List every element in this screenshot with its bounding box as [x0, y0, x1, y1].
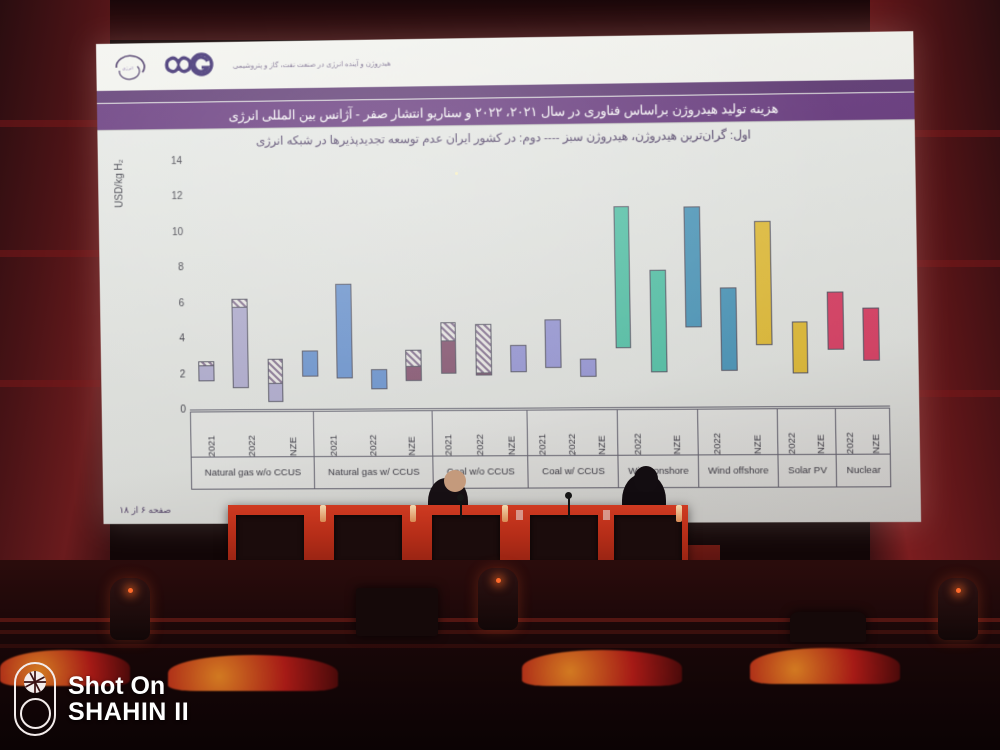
x-axis-group: 2022NZEWind offshore — [698, 409, 779, 487]
water-bottle — [502, 505, 508, 522]
watermark-line-1: Shot On — [68, 673, 189, 700]
x-axis-tick-label: 2022 — [247, 433, 258, 456]
x-axis-tick-label: NZE — [506, 434, 518, 455]
slide-subtitle: اول: گران‌ترین هیدروژن، هیدروژن سبز ----… — [97, 125, 915, 150]
x-axis-group-label: Wind offshore — [699, 455, 778, 487]
chart-bar — [232, 299, 249, 388]
wall-trim — [0, 380, 100, 387]
ripi-logo: انرژی — [110, 50, 155, 86]
x-axis-tick-label: 2022 — [632, 431, 644, 455]
stage-rail — [0, 644, 1000, 648]
wall-trim — [0, 250, 100, 257]
x-axis-tick-label: NZE — [407, 434, 419, 455]
x-axis-group-label: Nuclear — [837, 455, 890, 487]
x-axis-group: 2022NZEWind onshore — [618, 410, 699, 488]
svg-text:انرژی: انرژی — [122, 65, 133, 70]
projection-screen: انرژی هیدروژن و آینده انرژی در صنعت نفت،… — [96, 31, 921, 524]
cec-logo — [164, 49, 217, 85]
x-axis-tick-label: NZE — [288, 435, 299, 456]
x-axis-group: 20212022NZECoal w/ CCUS — [528, 410, 619, 487]
header-org-text: هیدروژن و آینده انرژی در صنعت نفت، گاز و… — [233, 60, 391, 70]
water-bottle — [410, 505, 416, 522]
x-axis-tick-label: NZE — [870, 432, 882, 454]
stage-light — [478, 568, 518, 630]
x-axis-subticks: 20212022NZE — [528, 410, 618, 456]
x-axis-tick-label: 2022 — [712, 431, 724, 455]
chart-bar-uncertainty-band — [198, 361, 214, 366]
x-axis-tick-label: NZE — [752, 433, 764, 454]
water-bottle — [676, 505, 682, 522]
drinking-glass — [516, 510, 523, 520]
x-axis-group-label: Solar PV — [779, 455, 837, 487]
wall-trim — [0, 120, 100, 127]
chart-bar — [440, 322, 457, 374]
x-axis-subticks: 20212022NZE — [433, 411, 528, 457]
x-axis-tick-label: 2022 — [475, 432, 487, 455]
chart-bar — [335, 284, 352, 379]
y-axis-tick: 4 — [161, 333, 185, 344]
x-axis-tick-label: NZE — [672, 433, 684, 454]
chart-bar-uncertainty-band — [440, 322, 456, 342]
camera-lens-ring — [20, 698, 51, 729]
x-axis-tick-label: 2021 — [206, 433, 217, 456]
chart-bar — [371, 369, 387, 389]
panelist-head — [634, 466, 658, 492]
chart-bar — [510, 345, 526, 372]
chart-bar — [267, 359, 284, 402]
chart-bar-uncertainty-band — [406, 349, 422, 367]
x-axis-group-label: Natural gas w/o CCUS — [192, 457, 315, 489]
x-axis-subticks: 2022NZE — [618, 410, 697, 456]
y-axis-tick: 14 — [158, 155, 182, 166]
x-axis-group-table: 20212022NZENatural gas w/o CCUS20212022N… — [190, 408, 891, 490]
chart-bar — [792, 321, 809, 373]
lens-dust-speck — [455, 172, 458, 175]
chart-bar — [684, 207, 702, 328]
x-axis-tick-label: 2021 — [443, 432, 455, 455]
stage-monitor-speaker — [356, 588, 438, 636]
watermark-line-2: SHAHIN II — [68, 699, 189, 726]
y-axis-tick: 8 — [159, 262, 183, 273]
chart-bar — [649, 270, 667, 373]
table-front-panel — [236, 515, 304, 563]
y-axis-tick: 10 — [159, 226, 183, 237]
x-axis-group: 2022NZESolar PV — [778, 409, 838, 487]
camera-watermark: Shot On SHAHIN II — [14, 662, 189, 736]
x-axis-tick-label: 2022 — [844, 430, 856, 454]
chart-bar — [406, 349, 422, 381]
chart-bar — [613, 206, 631, 348]
chart-bar — [754, 220, 772, 345]
x-axis-tick-label: 2022 — [567, 431, 579, 454]
table-front-panel — [432, 515, 500, 563]
x-axis-group: 20212022NZENatural gas w/o CCUS — [191, 412, 315, 489]
chart-bar — [545, 319, 562, 368]
microphone-stand — [568, 496, 570, 518]
chart-bar — [198, 361, 214, 381]
x-axis-subticks: 20212022NZE — [191, 412, 314, 458]
flower-arrangement — [750, 648, 900, 684]
stage-monitor-speaker — [790, 612, 866, 642]
chart-plot-area: 02468101214 — [186, 152, 890, 409]
chart-bar — [720, 287, 738, 370]
left-wall — [0, 0, 110, 600]
stage-light — [938, 578, 978, 640]
table-front-panel — [614, 515, 682, 563]
chart-bar-uncertainty-band — [232, 299, 248, 308]
x-axis-group: 20212022NZENatural gas w/ CCUS — [314, 411, 434, 488]
x-axis-tick-label: 2021 — [538, 432, 550, 455]
chart-bar — [827, 292, 844, 350]
panelist-head — [444, 470, 466, 492]
chart-bar — [862, 308, 879, 361]
x-axis-group-label: Natural gas w/ CCUS — [315, 457, 433, 489]
x-axis-group-label: Coal w/ CCUS — [529, 456, 619, 488]
x-axis-subticks: 2022NZE — [698, 409, 778, 455]
chart-bar-uncertainty-band — [475, 324, 492, 374]
chart-bar-uncertainty-band — [267, 359, 283, 384]
x-axis-tick-label: 2022 — [787, 430, 799, 454]
y-axis-tick: 12 — [158, 191, 182, 202]
photo-scene: انرژی هیدروژن و آینده انرژی در صنعت نفت،… — [0, 0, 1000, 750]
table-front-panel — [530, 515, 598, 563]
y-axis-label: USD/kg H₂ — [114, 159, 126, 208]
water-bottle — [320, 505, 326, 522]
y-axis-tick: 2 — [161, 368, 185, 379]
microphone-head — [565, 492, 572, 499]
y-axis-tick: 0 — [162, 404, 186, 415]
hydrogen-cost-chart: USD/kg H₂ 02468101214 20212022NZENatural… — [156, 152, 896, 492]
flower-arrangement — [522, 650, 682, 686]
stage-light — [110, 578, 150, 640]
x-axis-subticks: 2022NZE — [778, 409, 836, 455]
drinking-glass — [603, 510, 610, 520]
flower-arrangement — [168, 655, 338, 691]
chart-bar — [302, 350, 318, 377]
y-axis-tick: 6 — [160, 297, 184, 308]
slide-page-number: صفحه ۶ از ۱۸ — [119, 505, 171, 516]
chart-bar — [475, 324, 492, 376]
x-axis-tick-label: 2022 — [368, 432, 380, 455]
chart-bar — [580, 359, 596, 377]
x-axis-subticks: 2022NZE — [836, 409, 889, 455]
x-axis-tick-label: NZE — [816, 432, 828, 453]
microphone-stand — [460, 498, 462, 518]
x-axis-tick-label: NZE — [597, 434, 609, 455]
x-axis-subticks: 20212022NZE — [314, 411, 432, 457]
microphone-head — [457, 494, 464, 501]
table-front-panel — [334, 515, 402, 563]
x-axis-tick-label: 2021 — [328, 433, 340, 456]
x-axis-group: 2022NZENuclear — [836, 409, 890, 487]
camera-aperture-icon — [14, 662, 56, 736]
